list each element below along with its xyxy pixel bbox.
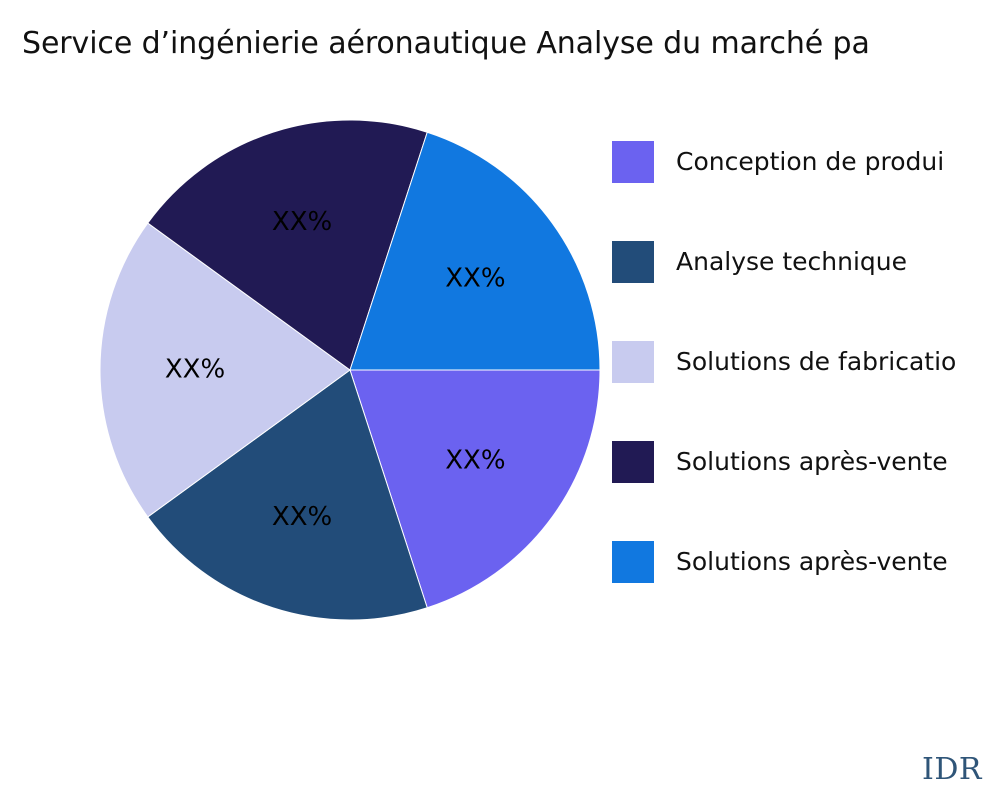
legend-item[interactable]: Solutions de fabricatio	[612, 312, 1000, 412]
legend-color-swatch	[612, 341, 654, 383]
pie-slice-label: XX%	[272, 502, 332, 532]
legend-item-label: Analyse technique	[676, 247, 907, 277]
legend-item[interactable]: Conception de produi	[612, 112, 1000, 212]
chart-legend: Conception de produiAnalyse techniqueSol…	[612, 112, 1000, 612]
watermark-idr: IDR	[922, 752, 982, 788]
legend-item-label: Solutions après-vente	[676, 547, 948, 577]
legend-item-label: Solutions après-vente	[676, 447, 948, 477]
legend-color-swatch	[612, 541, 654, 583]
pie-slice-label: XX%	[445, 263, 505, 293]
legend-item[interactable]: Solutions après-vente	[612, 512, 1000, 612]
legend-item[interactable]: Analyse technique	[612, 212, 1000, 312]
legend-item[interactable]: Solutions après-vente	[612, 412, 1000, 512]
pie-plot-area: XX%XX%XX%XX%XX%	[100, 120, 600, 620]
legend-color-swatch	[612, 141, 654, 183]
pie-svg: XX%XX%XX%XX%XX%	[100, 120, 600, 620]
legend-item-label: Solutions de fabricatio	[676, 347, 956, 377]
legend-color-swatch	[612, 441, 654, 483]
chart-title: Service d’ingénierie aéronautique Analys…	[22, 24, 1000, 64]
pie-slice-label: XX%	[272, 207, 332, 237]
pie-slice-label: XX%	[445, 446, 505, 476]
pie-slice-label: XX%	[165, 355, 225, 385]
legend-color-swatch	[612, 241, 654, 283]
pie-chart-figure: Service d’ingénierie aéronautique Analys…	[0, 0, 1000, 800]
legend-item-label: Conception de produi	[676, 147, 944, 177]
